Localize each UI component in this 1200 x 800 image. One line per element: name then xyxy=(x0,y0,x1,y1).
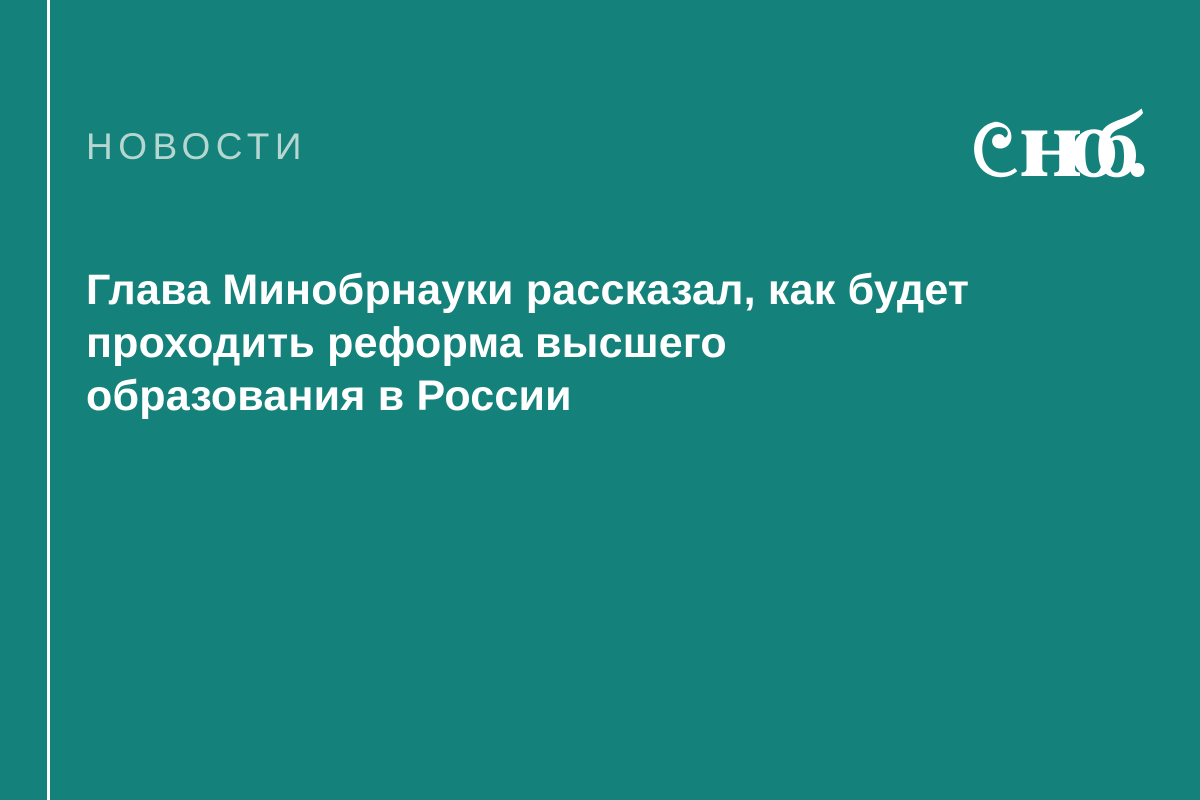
section-kicker: НОВОСТИ xyxy=(86,128,307,165)
left-accent-rule xyxy=(47,0,50,800)
card-header: НОВОСТИ Сноб. xyxy=(86,108,1145,194)
snob-logo[interactable]: Сноб. xyxy=(959,108,1145,194)
news-share-card: НОВОСТИ Сноб. Глава Минобрнауки ра xyxy=(0,0,1200,800)
article-headline: Глава Минобрнауки рассказал, как будет п… xyxy=(86,264,1006,423)
snob-wordmark-logo-icon xyxy=(959,108,1145,194)
